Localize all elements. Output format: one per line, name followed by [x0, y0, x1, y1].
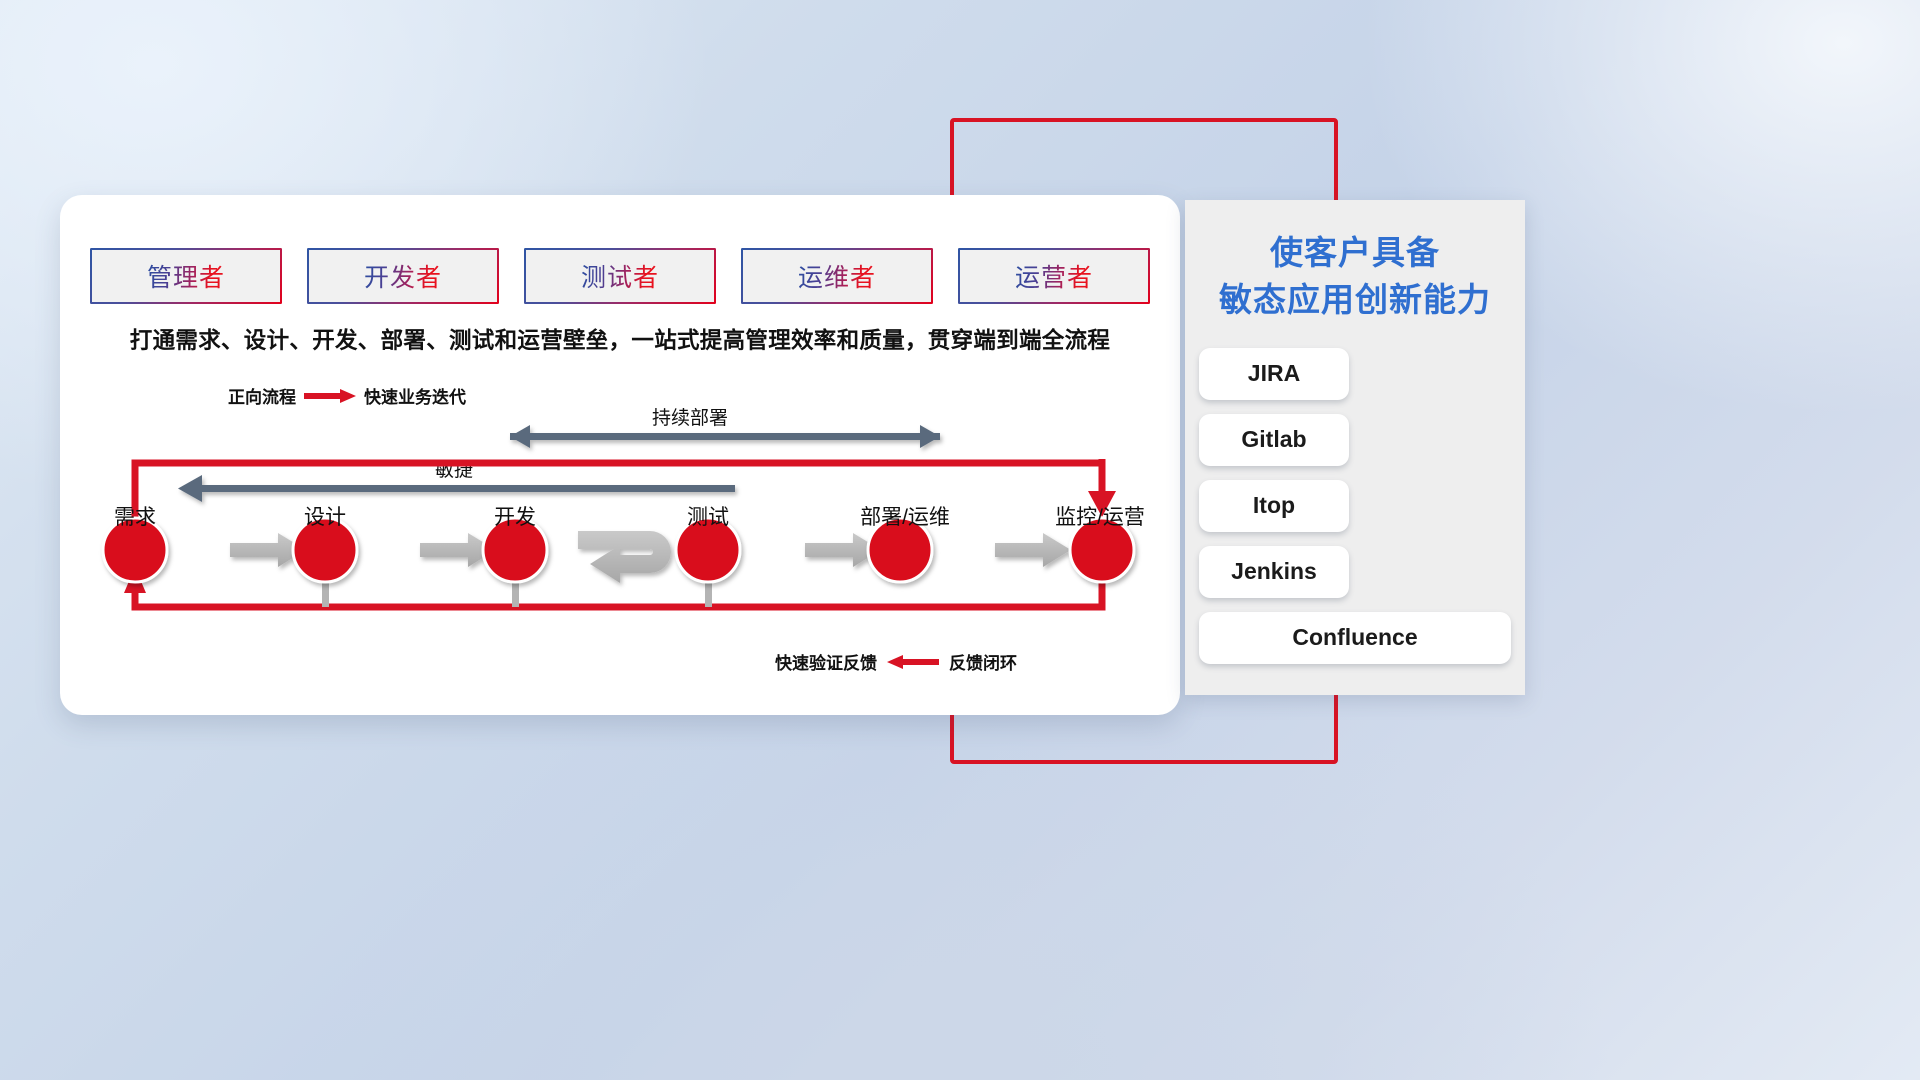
continuous-deploy-span-arrow [510, 425, 940, 448]
role-label: 管理者 [147, 258, 225, 294]
tool-chip-confluence[interactable]: Confluence [1199, 612, 1511, 664]
slide-canvas: 管理者 开发者 测试者 运维者 运营者 打通需求、设计、开发、部署、测试和运营壁… [0, 0, 1920, 1080]
tool-chip-jira[interactable]: JIRA [1199, 348, 1349, 400]
main-diagram-card: 管理者 开发者 测试者 运维者 运营者 打通需求、设计、开发、部署、测试和运营壁… [60, 195, 1180, 715]
role-label: 运维者 [798, 258, 876, 294]
tools-panel-title-line2: 敏态应用创新能力 [1185, 277, 1525, 324]
role-label: 测试者 [581, 258, 659, 294]
tool-chip-list: JIRA Gitlab Itop Jenkins Confluence [1185, 348, 1525, 664]
tool-chip-jenkins[interactable]: Jenkins [1199, 546, 1349, 598]
flow-arrow-5 [995, 533, 1071, 567]
tool-chip-itop[interactable]: Itop [1199, 480, 1349, 532]
tools-panel-title-line1: 使客户具备 [1185, 230, 1525, 277]
role-label: 运营者 [1015, 258, 1093, 294]
role-label: 开发者 [364, 258, 442, 294]
agile-span-arrow [178, 475, 735, 502]
tools-panel: 使客户具备 敏态应用创新能力 JIRA Gitlab Itop Jenkins … [1185, 200, 1525, 695]
tool-chip-gitlab[interactable]: Gitlab [1199, 414, 1349, 466]
tools-panel-title: 使客户具备 敏态应用创新能力 [1185, 230, 1525, 324]
